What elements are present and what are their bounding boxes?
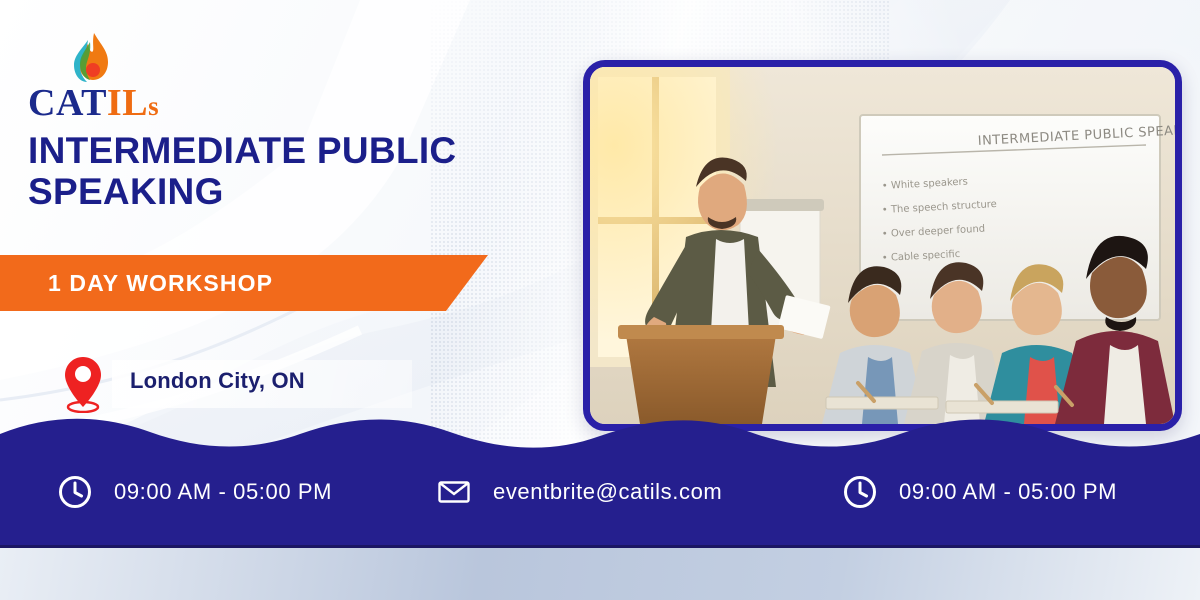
logo-wordmark: CATILs <box>28 84 198 122</box>
footer-item-time-right: 09:00 AM - 05:00 PM <box>843 470 1117 514</box>
bottom-strip <box>0 548 1200 600</box>
location-label: London City, ON <box>130 368 305 394</box>
title-line-2: SPEAKING <box>28 171 548 212</box>
clock-icon <box>843 475 877 509</box>
brand-logo: CATILs <box>28 32 198 122</box>
envelope-icon[interactable] <box>437 475 471 509</box>
logo-text-cat: CAT <box>28 82 107 124</box>
flame-icon <box>68 32 114 88</box>
title-line-1: INTERMEDIATE PUBLIC <box>28 130 548 171</box>
footer-email-label[interactable]: eventbrite@catils.com <box>493 479 722 505</box>
workshop-badge-label: 1 DAY WORKSHOP <box>0 270 273 297</box>
workshop-badge: 1 DAY WORKSHOP <box>0 255 488 311</box>
footer-item-email[interactable]: eventbrite@catils.com <box>437 470 722 514</box>
event-photo: INTERMEDIATE PUBLIC SPEAKING • White spe… <box>583 60 1182 431</box>
footer-time-right-label: 09:00 AM - 05:00 PM <box>899 479 1117 505</box>
classroom-photo-illustration: INTERMEDIATE PUBLIC SPEAKING • White spe… <box>590 67 1175 424</box>
clock-icon <box>58 475 92 509</box>
event-banner: CATILs INTERMEDIATE PUBLIC SPEAKING 1 DA… <box>0 0 1200 600</box>
footer-time-left-label: 09:00 AM - 05:00 PM <box>114 479 332 505</box>
logo-text-ils: ILs <box>107 82 159 124</box>
event-title: INTERMEDIATE PUBLIC SPEAKING <box>28 130 548 213</box>
footer-item-time-left: 09:00 AM - 05:00 PM <box>58 470 332 514</box>
